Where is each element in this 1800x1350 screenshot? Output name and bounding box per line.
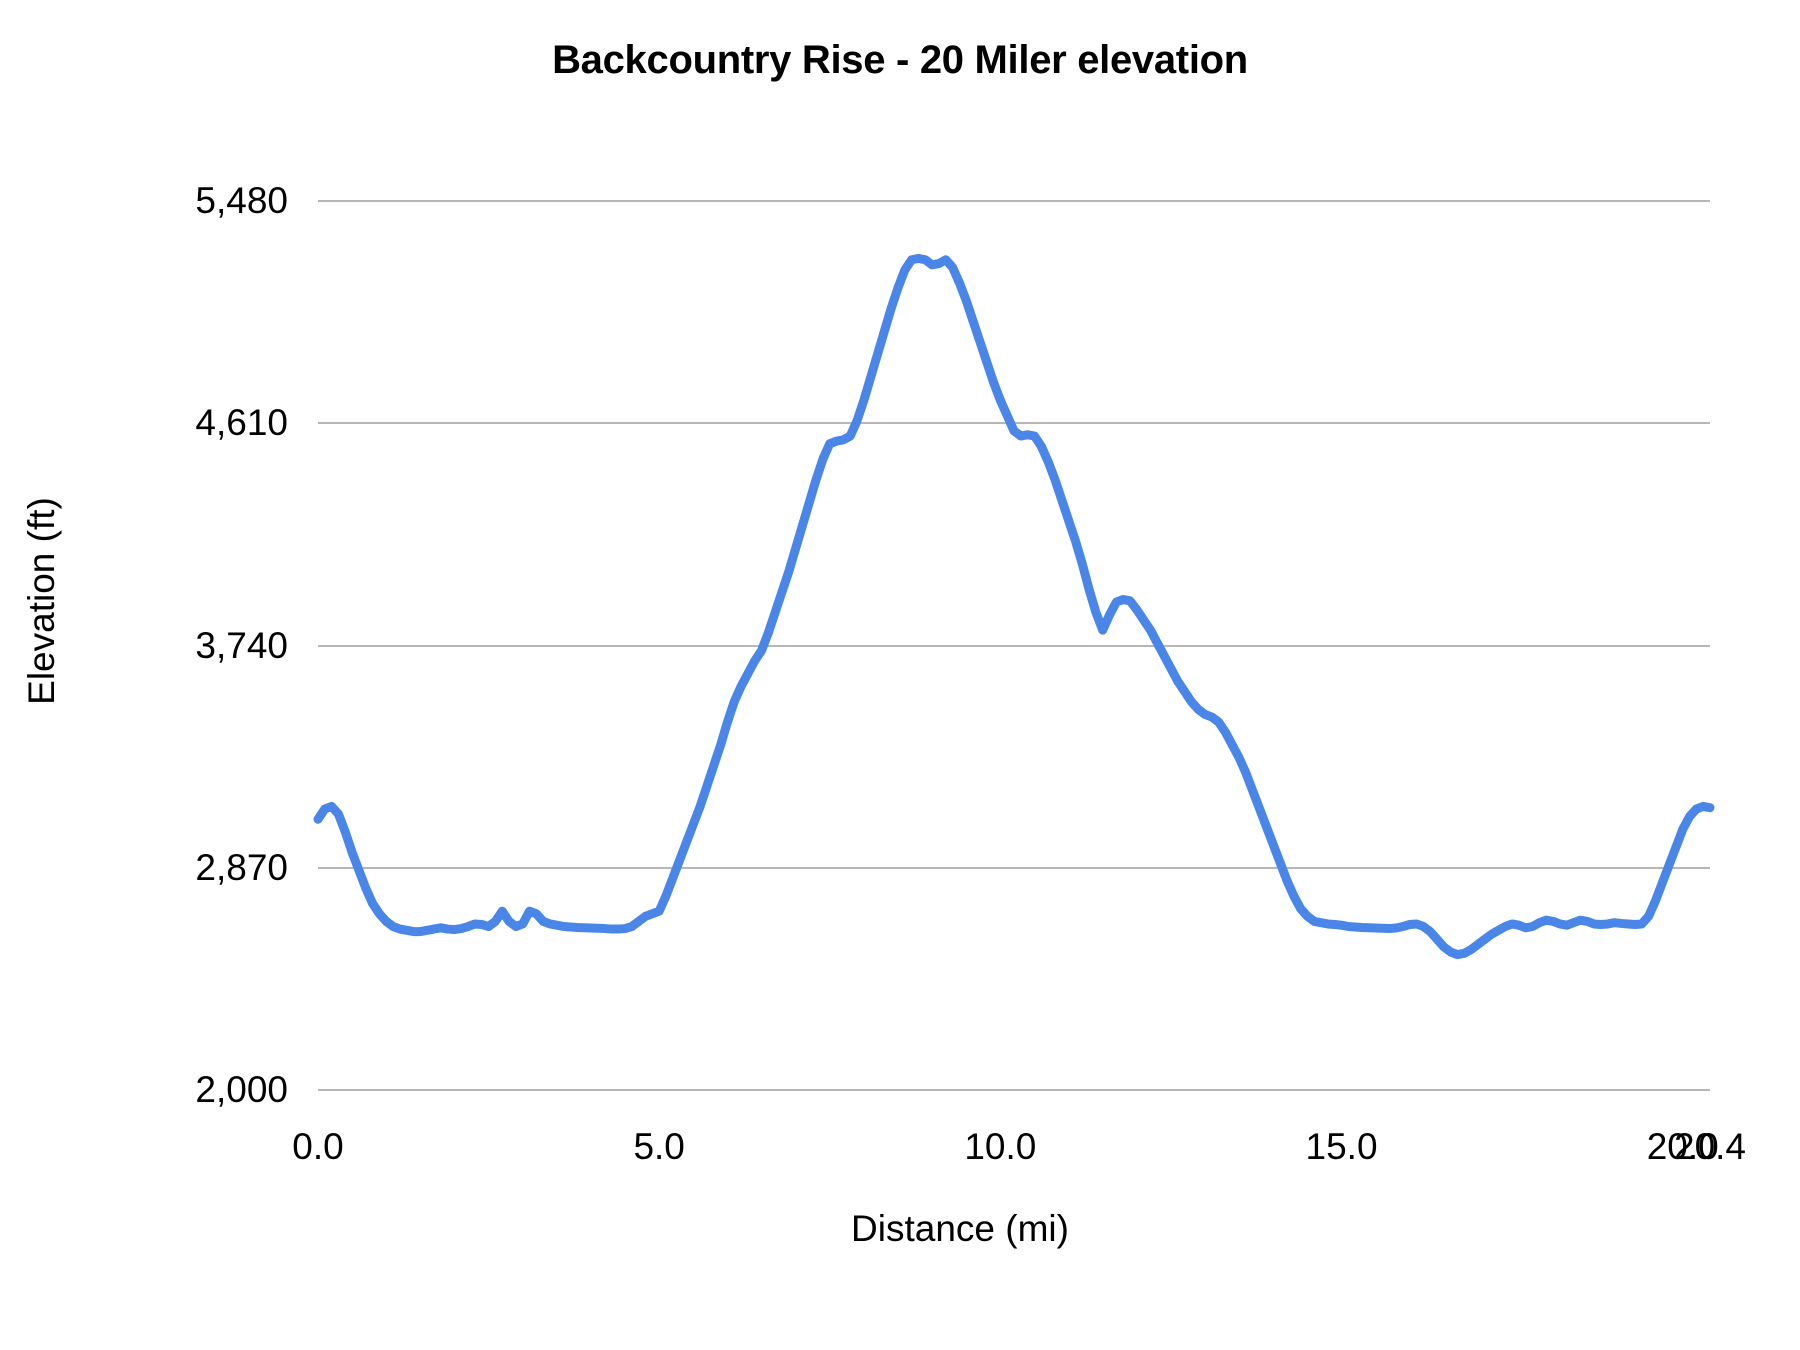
y-tick-label: 5,480 bbox=[195, 182, 288, 219]
y-axis-title: Elevation (ft) bbox=[21, 301, 63, 901]
y-tick-label: 3,740 bbox=[195, 627, 288, 664]
chart-container: Backcountry Rise - 20 Miler elevation El… bbox=[0, 0, 1800, 1350]
x-tick-label: 5.0 bbox=[633, 1128, 684, 1165]
plot-area bbox=[318, 201, 1710, 1090]
y-tick-label: 4,610 bbox=[195, 404, 288, 441]
chart-title: Backcountry Rise - 20 Miler elevation bbox=[0, 38, 1800, 83]
x-tick-label: 0.0 bbox=[292, 1128, 343, 1165]
x-axis-title: Distance (mi) bbox=[0, 1208, 1800, 1250]
y-tick-label: 2,870 bbox=[195, 849, 288, 886]
elevation-line bbox=[318, 258, 1710, 954]
elevation-series bbox=[318, 201, 1710, 1090]
x-tick-label: 15.0 bbox=[1306, 1128, 1378, 1165]
x-tick-label: 10.0 bbox=[964, 1128, 1036, 1165]
y-tick-label: 2,000 bbox=[195, 1071, 288, 1108]
x-tick-label: 20.4 bbox=[1674, 1128, 1746, 1165]
